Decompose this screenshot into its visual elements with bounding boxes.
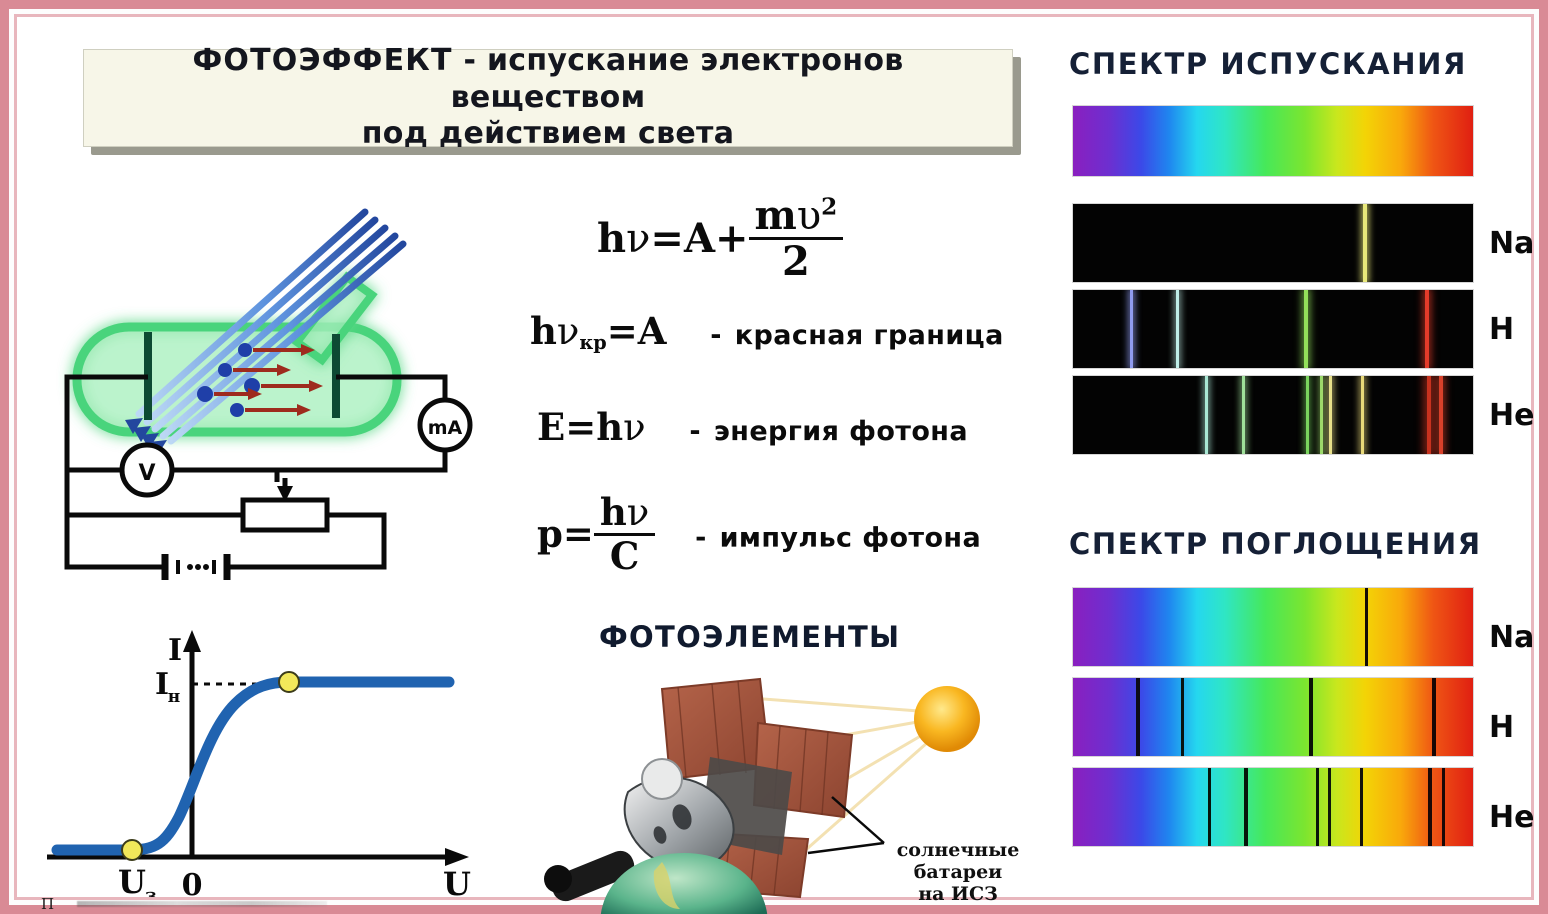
poster-stage: ФОТОЭФФЕКТ - испускание электронов вещес… [17,17,1531,897]
title-keyword: ФОТОЭФФЕКТ [192,43,452,78]
absorption-line [1360,768,1363,846]
footer-smudge-line [77,901,327,907]
voltmeter-label: V [138,461,155,486]
milliammeter-label: mA [428,417,463,439]
formula-einstein-lhs: h [597,215,626,262]
formula-photon-energy: E=hν - энергия фотона [537,405,968,449]
absorption-label-he: He [1489,800,1534,835]
formula-momentum-lightspeed: C [594,536,655,577]
formula-red-border: hνкр=A - красная граница [530,309,1004,354]
rheostat [243,478,327,530]
absorption-label-na: Na [1489,620,1534,655]
emission-band-na [1072,203,1474,283]
photocell-circuit-diagram: mA V [47,182,507,592]
spectral-line [1363,204,1367,282]
absorption-line [1181,678,1184,756]
svg-text:н: н [168,687,180,707]
absorption-line [1428,768,1432,846]
emission-lines-he [1073,376,1473,454]
current-voltage-graph: I U 0 I н U з [37,612,507,897]
formula-red-nu: ν [557,310,580,353]
caption-line-2: батареи [883,861,1033,883]
saturation-current-label: I н [155,667,180,707]
spectral-line [1361,376,1364,454]
emission-label-na: Na [1489,226,1534,261]
milliammeter: mA [420,400,470,450]
formula-energy-nu: ν [623,406,646,449]
absorption-lines-he [1073,768,1473,846]
footer-mark: П [41,895,54,913]
formula-momentum-desc: импульс фотона [720,523,982,554]
absorption-line [1365,588,1368,666]
title-line2: под действием света [362,116,735,151]
spectral-line [1130,290,1133,368]
emission-spectrum-title: СПЕКТР ИСПУСКАНИЯ [1069,47,1467,81]
absorption-line [1244,768,1248,846]
formula-einstein-velocity: υ [797,193,821,239]
y-axis-arrow [183,630,201,652]
title-line1: испускание электронов веществом [451,43,904,115]
formula-energy-dash: - [689,416,701,447]
absorption-lines-na [1073,588,1473,666]
spectral-line [1304,290,1308,368]
formula-einstein-denominator: 2 [749,240,844,285]
formula-energy-desc: энергия фотона [714,416,968,447]
emission-band-he [1072,375,1474,455]
formula-einstein-nu: ν [626,216,650,262]
antenna-dish [642,759,682,799]
formula-einstein-eq: =A+ [650,215,748,262]
battery [165,554,227,580]
poster-root: ФОТОЭФФЕКТ - испускание электронов вещес… [0,0,1548,914]
continuous-spectrum-band [1072,105,1474,177]
title-text: ФОТОЭФФЕКТ - испускание электронов вещес… [100,43,996,153]
formula-red-subscript: кр [579,331,606,354]
saturation-point [279,672,299,692]
spectral-line [1427,376,1431,454]
origin-label: 0 [182,868,203,897]
absorption-lines-h [1073,678,1473,756]
spectral-line [1306,376,1309,454]
absorption-label-h: H [1489,710,1514,745]
svg-text:U: U [118,863,146,897]
absorption-line [1309,678,1313,756]
spectral-line [1329,376,1332,454]
spectral-line [1242,376,1245,454]
spectral-line [1205,376,1208,454]
absorption-line [1136,678,1140,756]
formula-momentum-fraction: hνC [594,493,655,577]
formula-photon-momentum: p=hνC - импульс фотона [537,495,981,579]
formula-list: hν=A+mυ22 hνкр=A - красная граница E=hν … [512,187,1032,587]
satellite-caption: солнечные батареи на ИСЗ [883,839,1033,905]
absorption-band-na [1072,587,1474,667]
formula-red-lhs: h [530,309,557,353]
svg-text:з: з [145,885,157,897]
iv-curve [57,682,449,850]
spectral-line [1176,290,1179,368]
emission-band-h [1072,289,1474,369]
emission-lines-h [1073,290,1473,368]
spectral-line [1320,376,1322,454]
formula-momentum-planck: h [600,490,627,534]
absorption-spectrum-title: СПЕКТР ПОГЛОЩЕНИЯ [1069,527,1482,561]
absorption-band-h [1072,677,1474,757]
formula-red-desc: красная граница [735,320,1004,351]
formula-einstein-mass: m [755,192,797,239]
stopping-voltage-label: U з [118,863,157,897]
formula-red-eq: =A [607,309,667,353]
formula-red-dash: - [710,320,722,351]
absorption-line [1432,678,1436,756]
absorption-line [1328,768,1331,846]
graph-axes [47,642,457,857]
absorption-line [1316,768,1319,846]
emission-label-h: H [1489,312,1514,347]
formula-einstein-fraction: mυ22 [749,195,844,285]
voltmeter: V [122,445,172,495]
sun-icon [914,686,980,752]
photoelements-title: ФОТОЭЛЕМЕНТЫ [599,620,900,654]
title-banner: ФОТОЭФФЕКТ - испускание электронов вещес… [83,49,1013,147]
formula-momentum-dash: - [695,523,707,554]
caption-line-1: солнечные [883,839,1033,861]
absorption-line [1442,768,1445,846]
formula-energy-lhs: E=h [537,405,623,449]
axis-label-current: I [168,633,182,668]
formula-einstein-equation: hν=A+mυ22 [597,197,843,287]
formula-einstein-exponent: 2 [821,194,837,221]
spectral-line [1425,290,1429,368]
axis-label-voltage: U [443,865,471,897]
spectral-line [1439,376,1443,454]
emission-label-he: He [1489,398,1534,433]
caption-line-3: на ИСЗ [883,883,1033,905]
stopping-voltage-point [122,840,142,860]
x-axis-arrow [445,848,469,866]
emission-lines-na [1073,204,1473,282]
formula-momentum-nu: ν [627,491,650,534]
title-dash: - [463,43,476,78]
absorption-band-he [1072,767,1474,847]
absorption-line [1208,768,1211,846]
formula-momentum-lhs: p= [537,512,594,556]
